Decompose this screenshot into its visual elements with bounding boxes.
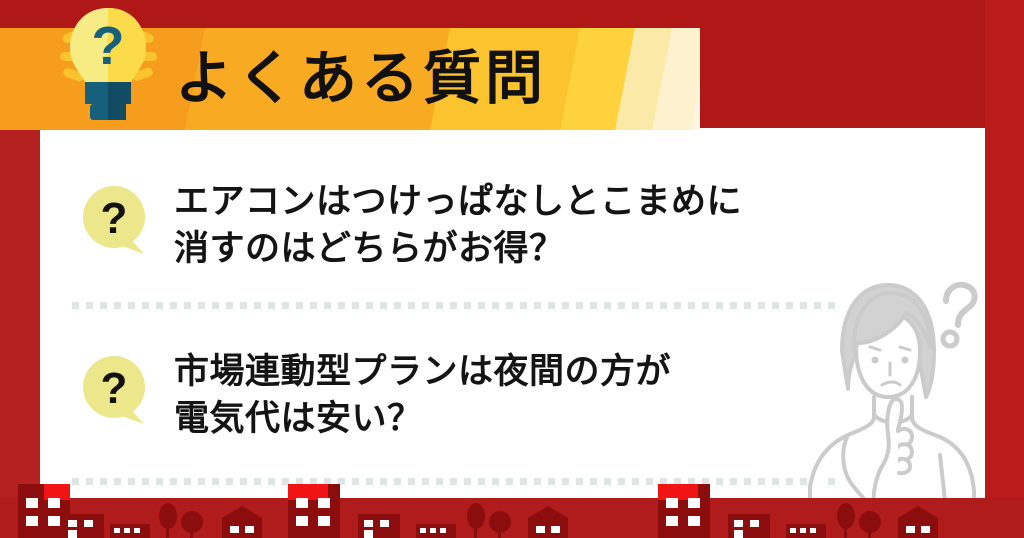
faq-question-2: 市場連動型プランは夜間の方が 電気代は安い？ <box>174 348 884 442</box>
frame-right <box>985 0 1024 538</box>
faq-question-2-line1: 市場連動型プランは夜間の方が <box>174 348 884 395</box>
faq-question-1: エアコンはつけっぱなしとこまめに 消すのはどちらがお得？ <box>174 178 884 272</box>
thinking-woman-illustration <box>800 255 990 510</box>
svg-text:?: ? <box>101 364 128 413</box>
frame-left <box>0 86 40 538</box>
infographic-canvas: ? よくある質問 ? エアコンはつけっぱなしとこまめに 消すのはどちらがお得？ … <box>0 0 1024 538</box>
faq-question-1-line1: エアコンはつけっぱなしとこまめに <box>174 178 884 225</box>
svg-text:?: ? <box>101 194 128 243</box>
lightbulb-icon: ? <box>52 2 164 128</box>
faq-question-2-line2: 電気代は安い？ <box>174 395 884 442</box>
page-title: よくある質問 <box>175 34 595 124</box>
question-bubble-icon: ? <box>80 354 152 430</box>
divider-1 <box>72 302 842 309</box>
lightbulb-question-glyph: ? <box>92 16 125 76</box>
cityscape-border <box>0 478 1024 538</box>
question-bubble-icon: ? <box>80 184 152 260</box>
faq-question-1-line2: 消すのはどちらがお得？ <box>174 225 884 272</box>
